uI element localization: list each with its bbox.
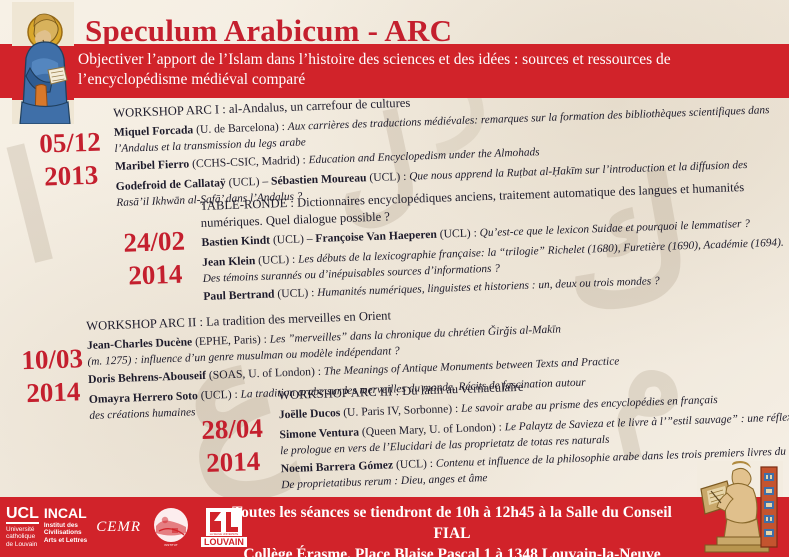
speaker-affiliation: (UCL) – [270, 232, 316, 247]
speaker-name: Joëlle Ducos [279, 406, 341, 421]
venue-line-2: Collège Érasme, Place Blaise Pascal 1 à … [232, 544, 672, 557]
speaker-name: Omayra Herrero Soto [89, 389, 198, 406]
programme-list: 05/12 2013 WORKSHOP ARC I : al-Andalus, … [0, 108, 789, 490]
speaker-affiliation: (EPHE, Paris) : [192, 333, 270, 349]
speaker-affiliation: (UCL) – [225, 175, 271, 190]
speaker-affiliation-2: (UCL) : [366, 170, 409, 184]
speaker-name: Bastien Kindt [201, 234, 270, 249]
poster-subtitle: Objectiver l’apport de l’Islam dans l’hi… [78, 50, 718, 90]
ucl-wordmark: UCL [6, 506, 39, 524]
speaker-affiliation: (SOAS, U. of London) : [206, 365, 324, 382]
session-date: 05/12 2013 [39, 129, 103, 191]
venue-info: Toutes les séances se tiendront de 10h à… [232, 502, 672, 557]
speaker-affiliation: (UCL) : [274, 286, 317, 300]
speaker-name: Maribel Fierro [115, 157, 190, 173]
ucl-subtitle: Université catholique de Louvain [6, 526, 39, 549]
speaker-name: Jean Klein [202, 254, 256, 269]
speaker-name: Paul Bertrand [203, 287, 275, 302]
speaker-name: Godefroid de Callataÿ [116, 176, 226, 193]
speaker-affiliation: (CCHS-CSIC, Madrid) : [189, 153, 309, 170]
incal-wordmark: INCAL [44, 506, 87, 520]
session-date: 24/02 2014 [123, 228, 187, 290]
speaker-affiliation: (Queen Mary, U. of London) : [359, 420, 505, 438]
poster-canvas: ا ل ك ع م ر Speculum Arabicum - ARC Obje… [0, 0, 789, 557]
speaker-affiliation: (U. Paris IV, Sorbonne) : [340, 402, 461, 419]
speaker-name: Doris Behrens-Abouseif [88, 369, 206, 386]
title-zone: Speculum Arabicum - ARC [0, 0, 789, 44]
incal-subtitle: Institut des Civilisations Arts et Lettr… [44, 522, 87, 545]
speaker-name: Miquel Forcada [114, 123, 194, 139]
medieval-scribe-illustration [697, 461, 783, 557]
logo-ucl: UCL Université catholique de Louvain INC… [6, 506, 87, 549]
illuminated-scribe-icon [12, 2, 74, 124]
circular-seal-icon: INSTITUT [150, 506, 192, 548]
speaker-name: Noemi Barrera Gómez [280, 458, 393, 475]
speaker-name: Simone Ventura [279, 425, 359, 441]
speaker-name-2: Françoise Van Haeperen [315, 228, 437, 245]
venue-line-1: Toutes les séances se tiendront de 10h à… [232, 502, 672, 544]
session-entries: TABLE-RONDE : Dictionnaires encyclopédiq… [200, 179, 785, 307]
svg-text:INSTITUT: INSTITUT [164, 543, 178, 547]
speaker-affiliation: (UCL) : [393, 457, 436, 471]
logo-bar: UCL Université catholique de Louvain INC… [6, 503, 247, 551]
speaker-affiliation: (U. de Barcelona) : [193, 120, 288, 136]
logo-cemr: CEMR [96, 519, 141, 536]
session-date: 28/04 2014 [201, 415, 265, 477]
speaker-name-2: Sébastien Moureau [271, 171, 367, 187]
speaker-affiliation: (UCL) : [198, 388, 241, 402]
speaker-affiliation-2: (UCL) : [437, 226, 480, 240]
session-date: 10/03 2014 [21, 345, 85, 407]
speaker-affiliation: (UCL) : [255, 253, 298, 267]
speaker-name: Jean-Charles Ducène [87, 335, 193, 352]
